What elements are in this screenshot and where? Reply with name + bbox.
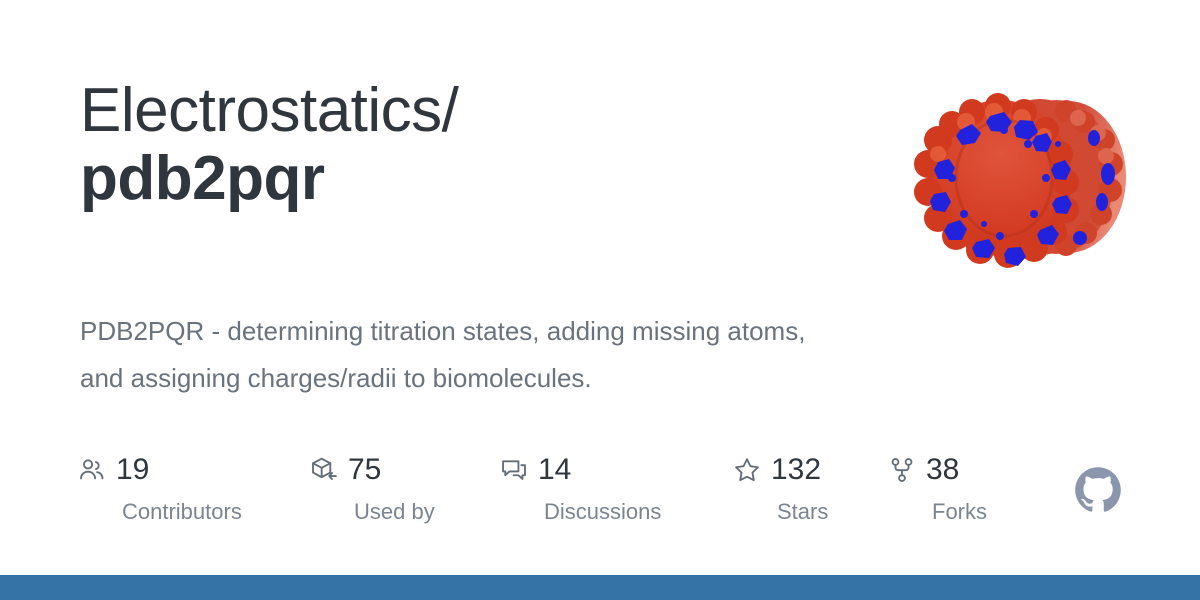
stat-contributors-label: Contributors — [122, 500, 242, 524]
stat-stars[interactable]: 132 Stars — [733, 452, 828, 524]
stat-stars-label: Stars — [777, 500, 828, 524]
stat-forks-top: 38 — [888, 452, 987, 488]
package-dependents-icon — [310, 456, 338, 484]
stat-stars-top: 132 — [733, 452, 828, 488]
stat-used-by[interactable]: 75 Used by — [310, 452, 435, 524]
stat-used-by-top: 75 — [310, 452, 435, 488]
repository-stats: 19 Contributors 75 Used by — [78, 452, 1148, 542]
stat-forks-value: 38 — [926, 455, 959, 485]
stat-forks[interactable]: 38 Forks — [888, 452, 987, 524]
stat-stars-value: 132 — [771, 455, 821, 485]
repository-owner[interactable]: Electrostatics/ — [80, 78, 800, 144]
stat-contributors-value: 19 — [116, 455, 149, 485]
language-bar — [0, 575, 1200, 600]
stat-discussions[interactable]: 14 Discussions — [500, 452, 661, 524]
fork-icon — [888, 456, 916, 484]
repository-title[interactable]: Electrostatics/ pdb2pqr — [80, 78, 800, 213]
stat-contributors[interactable]: 19 Contributors — [78, 452, 242, 524]
stat-used-by-value: 75 — [348, 455, 381, 485]
stat-contributors-top: 19 — [78, 452, 242, 488]
stat-used-by-label: Used by — [354, 500, 435, 524]
stat-discussions-value: 14 — [538, 455, 571, 485]
discussion-bubbles-icon — [500, 456, 528, 484]
language-bar-segment — [0, 575, 1200, 600]
stat-discussions-label: Discussions — [544, 500, 661, 524]
repository-social-preview-card: Electrostatics/ pdb2pqr — [0, 0, 1200, 600]
people-icon — [78, 456, 106, 484]
repository-description: PDB2PQR - determining titration states, … — [80, 308, 820, 402]
stat-forks-label: Forks — [932, 500, 987, 524]
header-region: Electrostatics/ pdb2pqr — [0, 0, 1200, 290]
stat-discussions-top: 14 — [500, 452, 661, 488]
repository-name[interactable]: pdb2pqr — [80, 144, 800, 213]
molecular-surface-render — [908, 78, 1130, 278]
github-octocat-icon — [1074, 466, 1122, 514]
star-icon — [733, 456, 761, 484]
